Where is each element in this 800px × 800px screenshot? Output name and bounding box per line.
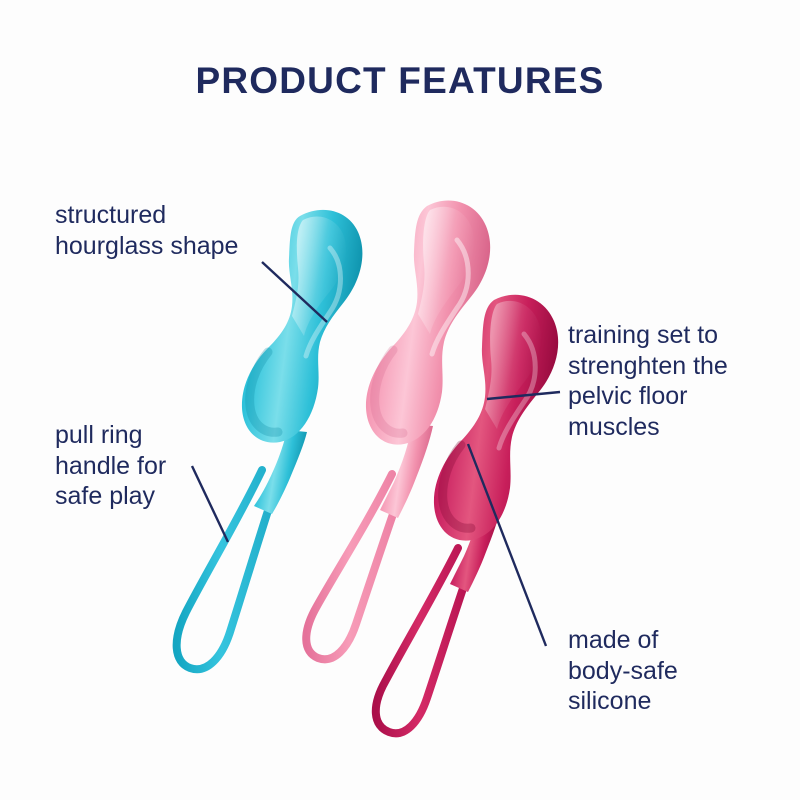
product-teal — [177, 210, 363, 669]
callout-training-set: training set to strenghten the pelvic fl… — [568, 320, 728, 442]
callout-structured-hourglass-shape: structured hourglass shape — [55, 200, 238, 261]
product-features-infographic: PRODUCT FEATURES structured hourglass sh… — [0, 0, 800, 800]
callout-line: handle for — [55, 451, 166, 482]
callout-line: made of — [568, 625, 678, 656]
callout-line: muscles — [568, 412, 728, 443]
callout-body-safe-silicone: made of body-safe silicone — [568, 625, 678, 717]
leader-line-pullring — [192, 466, 228, 542]
callout-line: structured — [55, 200, 238, 231]
callout-pull-ring-handle: pull ring handle for safe play — [55, 420, 166, 512]
callout-line: silicone — [568, 686, 678, 717]
callout-line: hourglass shape — [55, 231, 238, 262]
callout-line: pelvic floor — [568, 381, 728, 412]
callout-line: strenghten the — [568, 351, 728, 382]
callout-line: pull ring — [55, 420, 166, 451]
callout-line: training set to — [568, 320, 728, 351]
page-title: PRODUCT FEATURES — [0, 60, 800, 102]
callout-line: body-safe — [568, 656, 678, 687]
callout-line: safe play — [55, 481, 166, 512]
